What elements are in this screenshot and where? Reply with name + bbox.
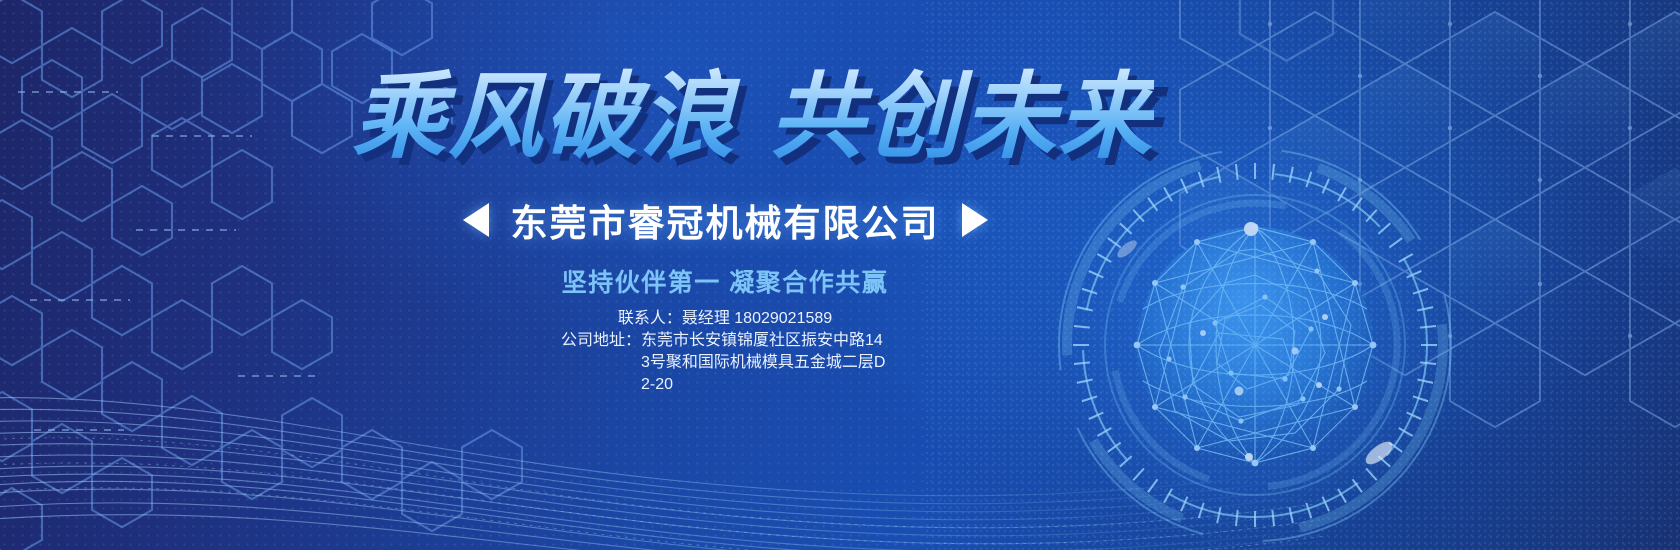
contact-person-value: 聂经理 18029021589: [682, 308, 832, 330]
company-name: 东莞市睿冠机械有限公司: [511, 193, 940, 247]
right-triangle-icon: [962, 203, 988, 237]
headline-part2: 共创未来: [770, 63, 1154, 172]
contact-address-row: 公司地址： 东莞市长安镇锦厦社区振安中路143号聚和国际机械模具五金城二层D2-…: [455, 330, 995, 396]
contact-address-value: 东莞市长安镇锦厦社区振安中路143号聚和国际机械模具五金城二层D2-20: [641, 330, 889, 396]
globe-glow: [1055, 145, 1455, 545]
contact-person-row: 联系人： 聂经理 18029021589: [455, 308, 995, 330]
headline-part1: 乘风破浪: [352, 63, 736, 172]
headline-text: 乘风破浪共创未来: [352, 66, 1154, 170]
contact-address-label: 公司地址：: [561, 330, 641, 352]
contact-person-label: 联系人：: [618, 308, 682, 330]
left-triangle-icon: [463, 203, 489, 237]
headline-block: 乘风破浪共创未来 乘风破浪共创未来: [352, 66, 1192, 170]
promo-banner: 乘风破浪共创未来 乘风破浪共创未来 东莞市睿冠机械有限公司 坚持伙伴第一 凝聚合…: [0, 0, 1680, 550]
tagline: 坚持伙伴第一 凝聚合作共赢: [455, 263, 995, 299]
company-name-row: 东莞市睿冠机械有限公司: [455, 193, 995, 247]
contact-block: 联系人： 聂经理 18029021589 公司地址： 东莞市长安镇锦厦社区振安中…: [455, 308, 995, 396]
dashed-connectors: [18, 92, 318, 430]
